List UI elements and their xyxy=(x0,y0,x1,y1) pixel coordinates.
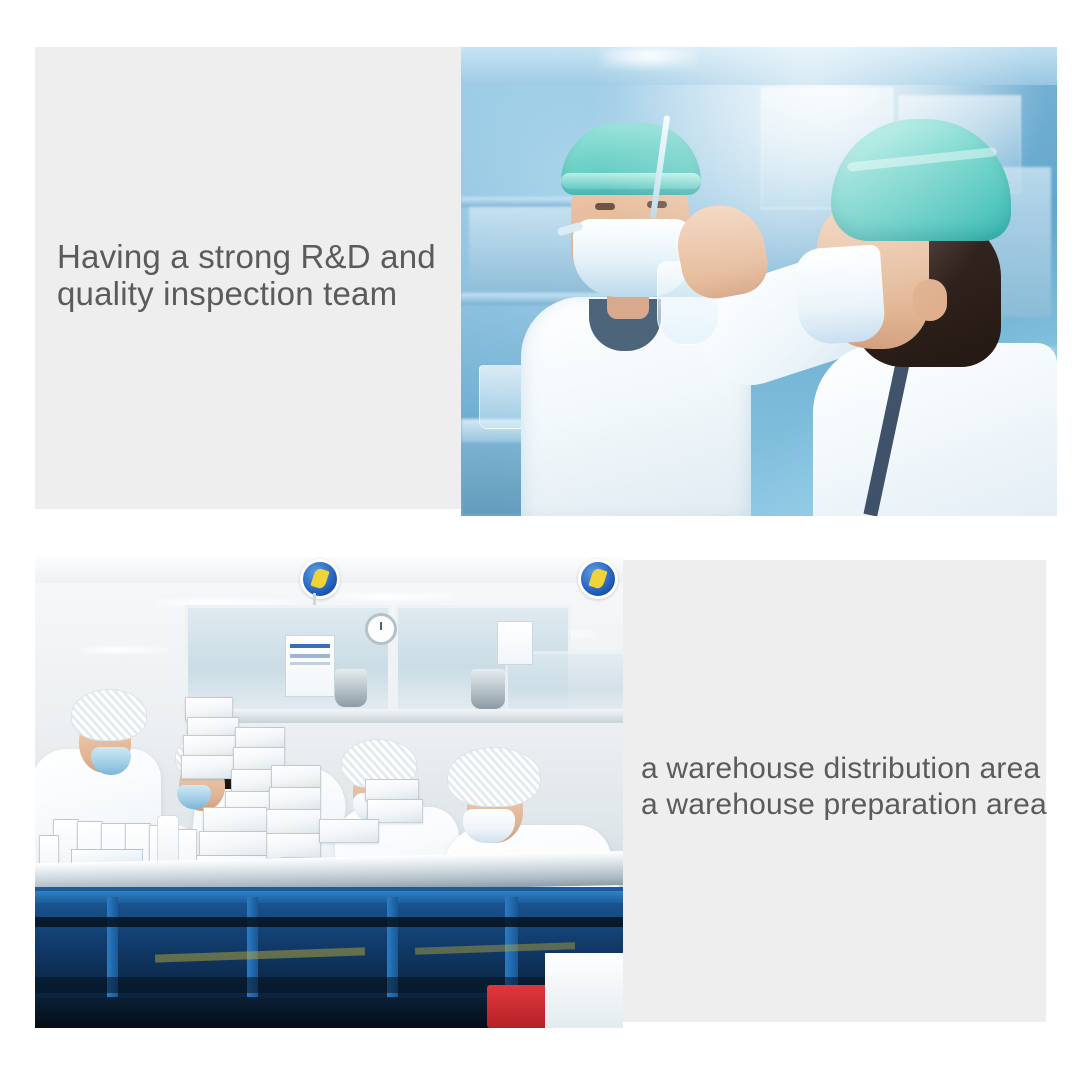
rnd-quality-row: Having a strong R&D and quality inspecti… xyxy=(35,47,1057,516)
back-counter xyxy=(215,709,623,723)
technician-one-hairnet-rim xyxy=(561,173,701,189)
carton-box xyxy=(261,833,321,859)
worker-e-coat-hem xyxy=(545,953,623,1028)
table-shadow-bar xyxy=(35,917,623,927)
carton-box xyxy=(181,755,237,779)
warehouse-packing-photo xyxy=(35,557,623,1028)
rnd-quality-caption: Having a strong R&D and quality inspecti… xyxy=(57,238,457,312)
worker-a-hairnet xyxy=(71,689,147,741)
page-root: Having a strong R&D and quality inspecti… xyxy=(0,0,1080,1080)
table-rail xyxy=(35,891,623,903)
steel-container xyxy=(335,669,367,707)
carton-box xyxy=(235,727,285,749)
warehouse-text-panel: a warehouse distribution area a warehous… xyxy=(623,560,1046,1022)
blue-circular-sign-icon xyxy=(300,559,340,599)
ceiling-lamp-icon xyxy=(335,593,455,600)
carton-box xyxy=(265,809,321,835)
rnd-quality-text-panel: Having a strong R&D and quality inspecti… xyxy=(35,47,461,509)
wall-poster xyxy=(285,635,335,697)
poster-bar xyxy=(290,654,330,658)
ceiling-lamp-icon xyxy=(79,647,169,653)
warehouse-scene xyxy=(35,557,623,1028)
steel-container xyxy=(471,669,505,709)
wall-clock-icon xyxy=(365,613,397,645)
technician-two-face-mask xyxy=(794,244,886,346)
technician-two-ear xyxy=(913,279,947,321)
carton-box xyxy=(271,765,321,789)
warehouse-row: a warehouse distribution area a warehous… xyxy=(35,557,1046,1028)
lab-quality-inspection-photo xyxy=(461,47,1057,516)
poster-bar xyxy=(290,644,330,648)
blue-circular-sign-icon xyxy=(578,559,618,599)
technician-one-eye xyxy=(595,203,615,210)
wall-poster xyxy=(497,621,533,665)
worker-d-hairnet xyxy=(447,747,541,807)
carton-box xyxy=(365,779,419,801)
lab-ceiling xyxy=(461,47,1057,85)
poster-bar xyxy=(290,662,330,665)
ceiling-lamp-icon xyxy=(601,47,697,69)
carton-box xyxy=(319,819,379,843)
warehouse-caption: a warehouse distribution area a warehous… xyxy=(641,751,1051,823)
lab-scene xyxy=(461,47,1057,516)
technician-two-labcoat xyxy=(813,343,1057,516)
carton-box xyxy=(269,787,321,811)
